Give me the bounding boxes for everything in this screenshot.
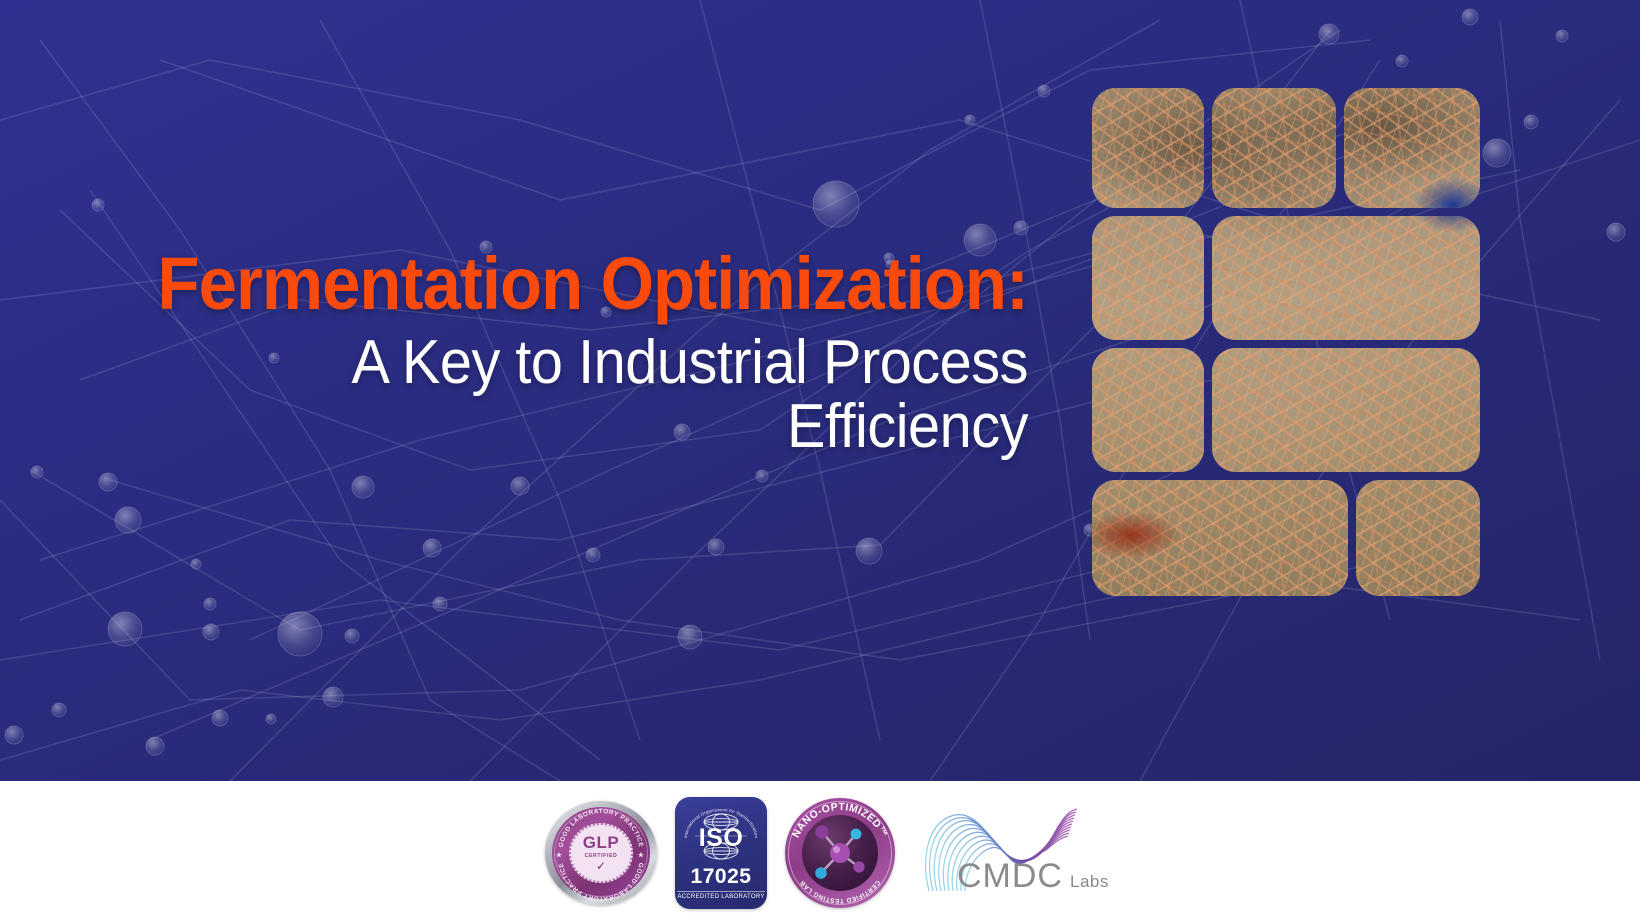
- title-block: Fermentation Optimization: A Key to Indu…: [60, 248, 1028, 459]
- cmdc-name: CMDC: [957, 857, 1063, 896]
- fermentation-image-collage: [1092, 88, 1480, 596]
- certification-footer: GOOD LABORATORY PRACTICE GOOD LABORATORY…: [0, 781, 1640, 924]
- glp-certified-label: CERTIFIED: [585, 853, 618, 859]
- page-subtitle: A Key to Industrial Process Efficiency: [128, 331, 1028, 460]
- collage-tile-r3c2: [1212, 348, 1480, 472]
- presentation-slide: Fermentation Optimization: A Key to Indu…: [0, 0, 1640, 924]
- molecule-icon: [802, 815, 878, 891]
- cmdc-labs-logo: CMDC Labs: [913, 801, 1095, 905]
- cmdc-wordmark: CMDC Labs: [957, 857, 1109, 896]
- collage-tile-r2c2: [1212, 216, 1480, 340]
- collage-tile-r1c1: [1092, 88, 1204, 208]
- iso-globe-group: International Organization for Standardi…: [683, 809, 759, 863]
- iso-number: 17025: [691, 865, 752, 889]
- check-icon: ✓: [596, 860, 606, 872]
- glp-certified-badge: GOOD LABORATORY PRACTICE GOOD LABORATORY…: [545, 801, 657, 905]
- nano-optimized-badge: NANO-OPTIMIZED™ CERTIFIED TESTING LAB: [785, 798, 895, 908]
- collage-tile-r3c1: [1092, 348, 1204, 472]
- collage-tile-r4c1: [1092, 480, 1348, 596]
- glp-inner-disc: GLP CERTIFIED ✓: [569, 823, 633, 883]
- collage-tile-r1c3: [1344, 88, 1480, 208]
- collage-tile-r4c2: [1356, 480, 1480, 596]
- page-subtitle-line1: A Key to Industrial Process: [351, 328, 1028, 397]
- hero-section: Fermentation Optimization: A Key to Indu…: [0, 0, 1640, 781]
- collage-tile-r2c1: [1092, 216, 1204, 340]
- collage-tile-r1c2: [1212, 88, 1336, 208]
- iso-word: ISO: [683, 826, 759, 851]
- page-subtitle-line2: Efficiency: [787, 392, 1028, 461]
- iso-accredited-label: ACCREDITED LABORATORY: [677, 891, 764, 900]
- page-title: Fermentation Optimization:: [128, 248, 1028, 321]
- nano-inner-disc: [802, 815, 878, 891]
- iso-17025-badge: International Organization for Standardi…: [675, 797, 767, 909]
- glp-label: GLP: [583, 834, 619, 851]
- cmdc-labs-suffix: Labs: [1070, 872, 1109, 892]
